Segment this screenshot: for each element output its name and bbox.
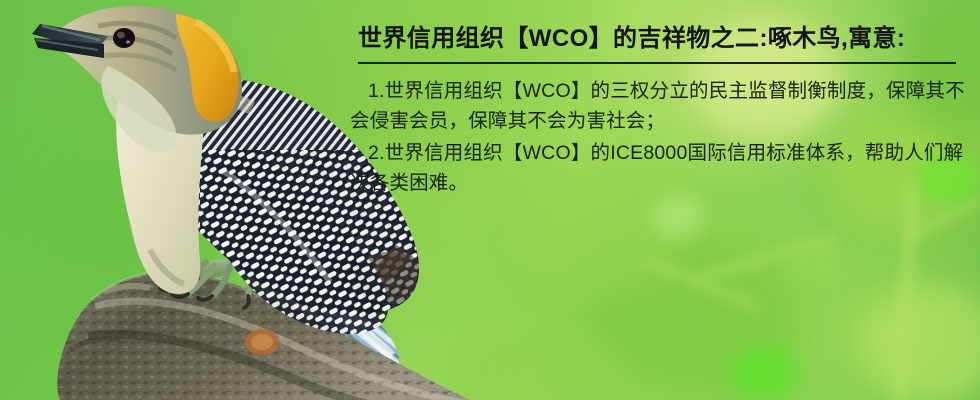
blurred-leaf <box>785 240 845 285</box>
list-item: 1.世界信用组织【WCO】的三权分立的民主监督制衡制度，保障其不会侵害会员，保障… <box>350 76 970 136</box>
page-title: 世界信用组织【WCO】的吉祥物之二:啄木鸟,寓意: <box>358 22 970 56</box>
blurred-leaf <box>650 195 705 237</box>
blurred-leaf <box>730 345 800 400</box>
woodpecker-head <box>32 6 242 152</box>
mascot-meaning-list: 1.世界信用组织【WCO】的三权分立的民主监督制衡制度，保障其不会侵害会员，保障… <box>350 76 970 198</box>
list-item: 2.世界信用组织【WCO】的ICE8000国际信用标准体系，帮助人们解决各类困难… <box>350 138 970 198</box>
title-divider <box>358 62 956 64</box>
wco-mascot-banner: 世界信用组织【WCO】的吉祥物之二:啄木鸟,寓意: 1.世界信用组织【WCO】的… <box>0 0 980 400</box>
banner-text-content: 世界信用组织【WCO】的吉祥物之二:啄木鸟,寓意: 1.世界信用组织【WCO】的… <box>350 22 970 200</box>
bird-eye <box>113 28 135 48</box>
